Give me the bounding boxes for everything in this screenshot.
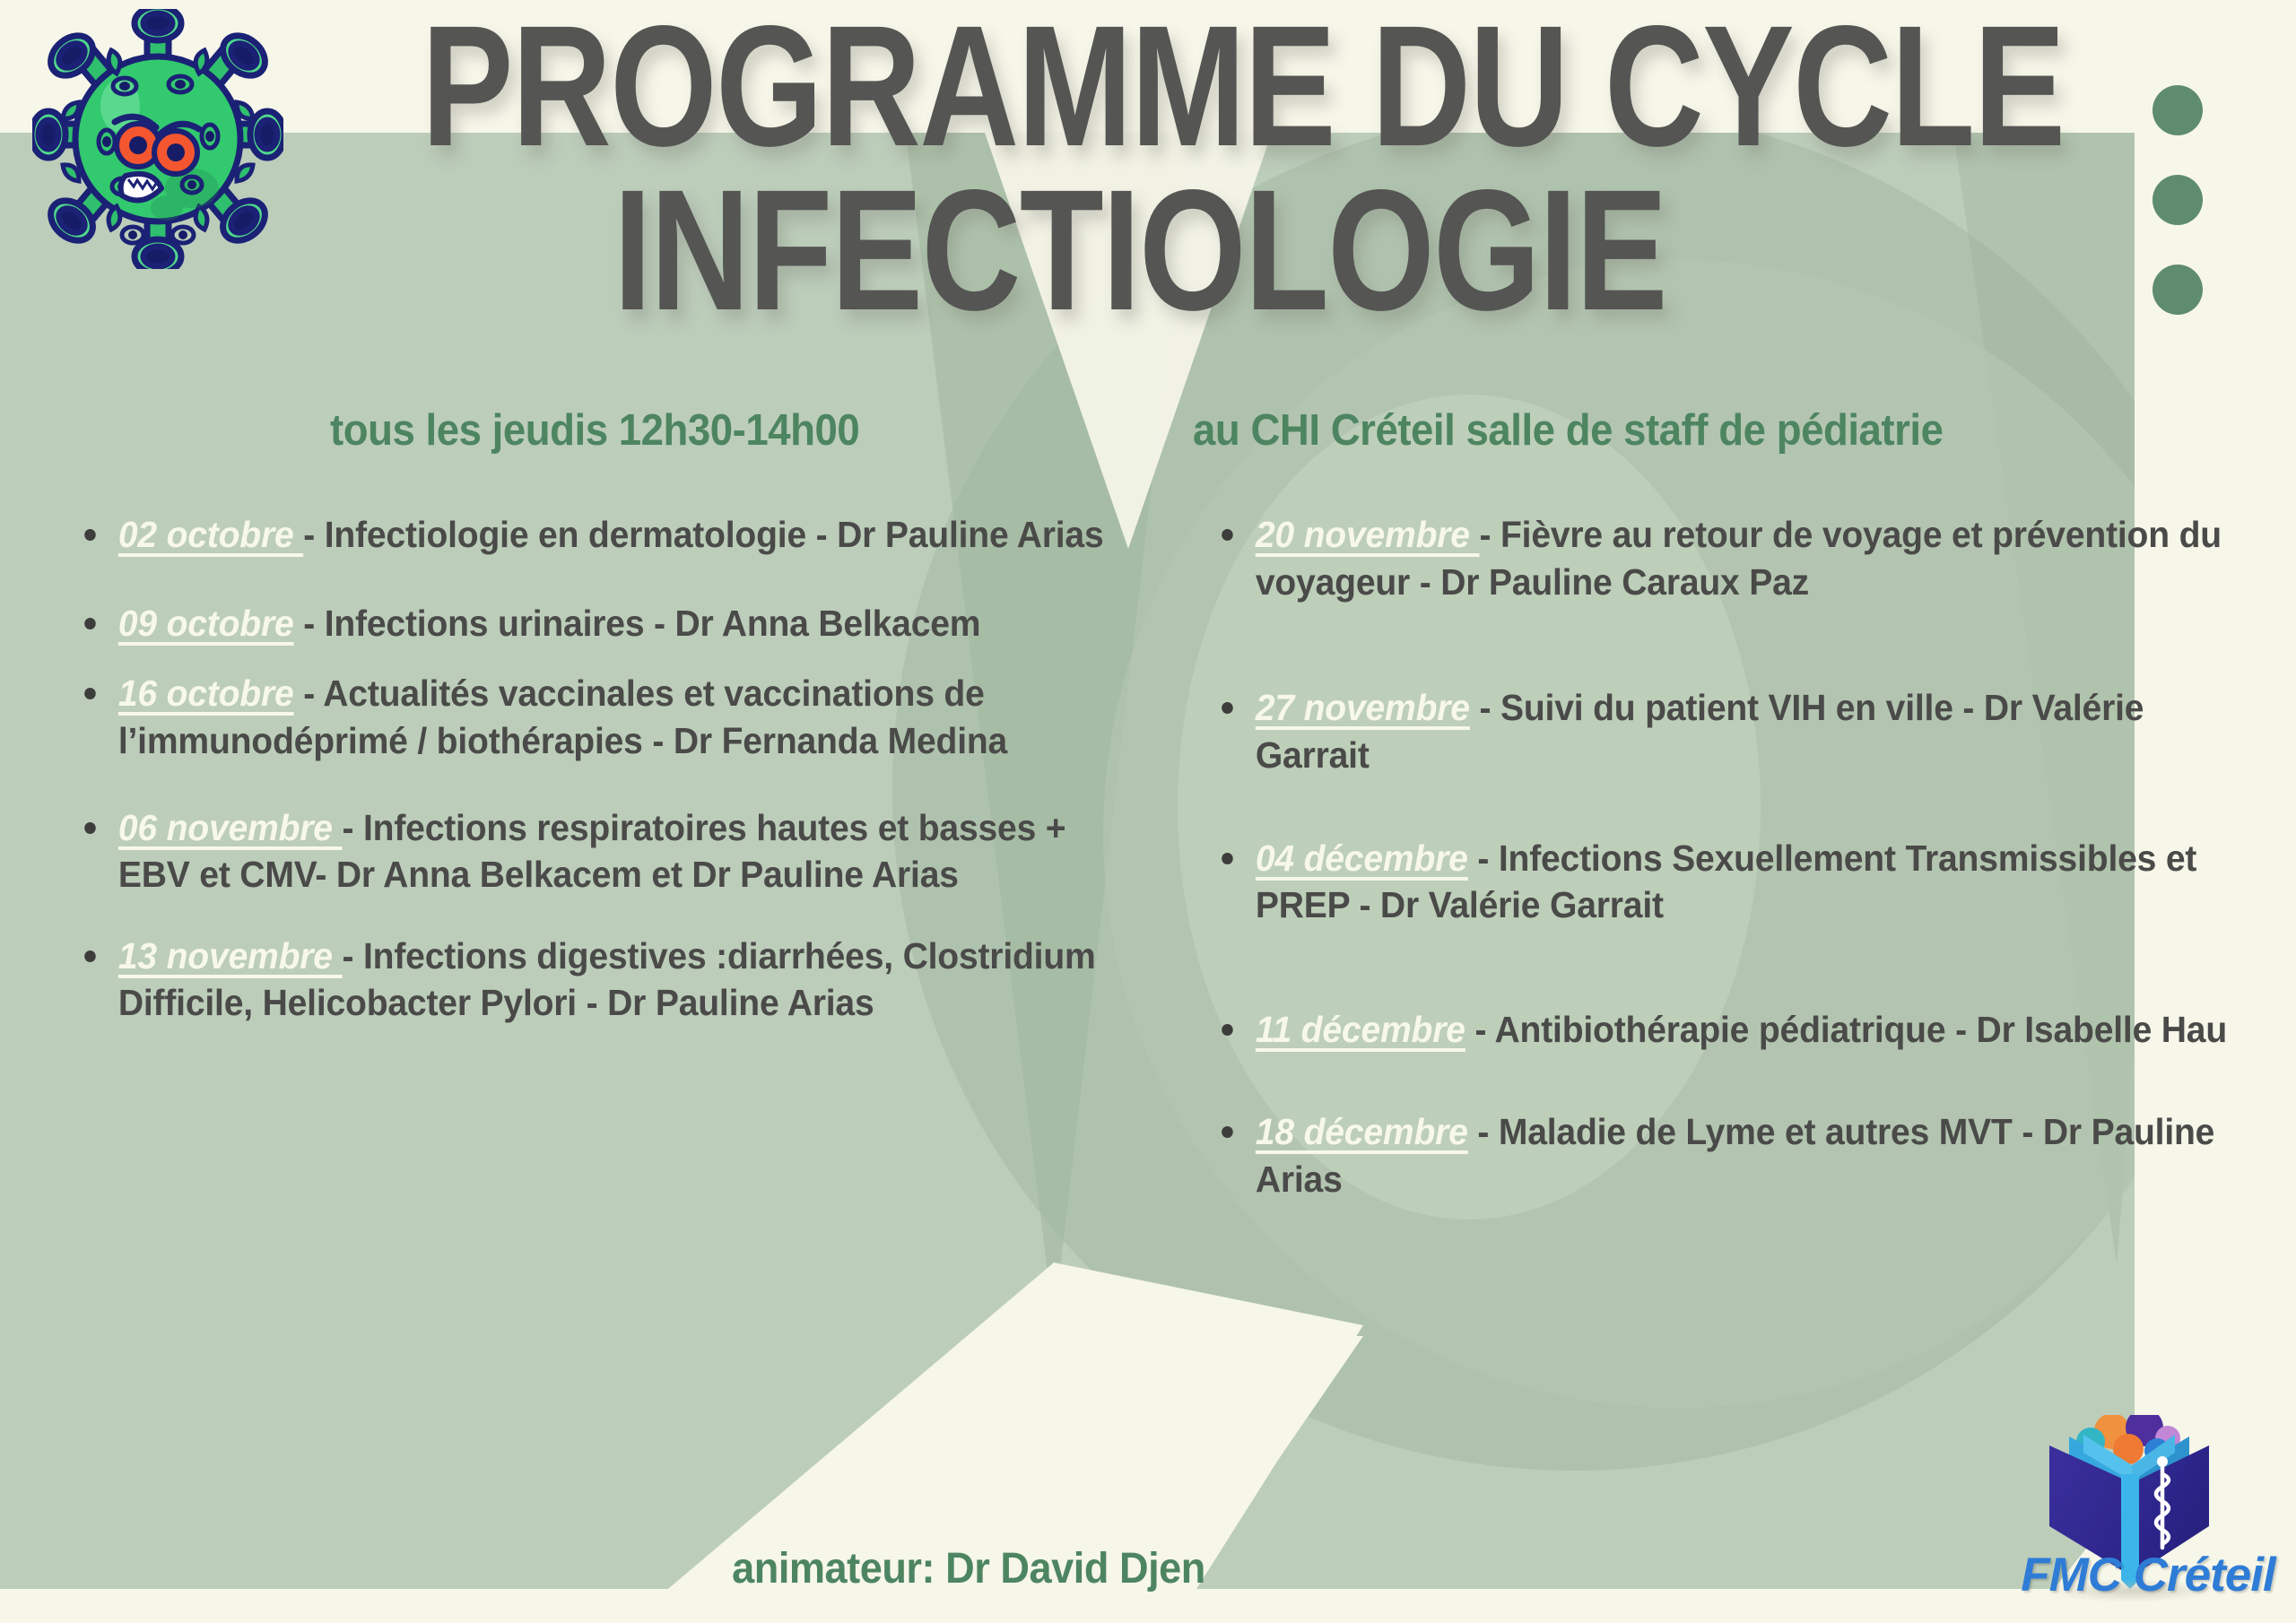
schedule-item-date: 02 octobre xyxy=(118,514,303,555)
subheader-location: au CHI Créteil salle de staff de pédiatr… xyxy=(1193,405,1943,456)
fmc-creteil-logo: FMC Créteil xyxy=(2013,1415,2283,1617)
schedule-item: 04 décembre - Infections Sexuellement Tr… xyxy=(1202,835,2253,929)
schedule-item-date: 09 octobre xyxy=(118,603,294,644)
subheader-row: tous les jeudis 12h30-14h00 au CHI Créte… xyxy=(0,405,2296,468)
schedule-column-left: 02 octobre - Infectiologie en dermatolog… xyxy=(65,511,1186,1061)
schedule-item-date: 27 novembre xyxy=(1256,687,1470,728)
fmc-logo-wordmark: FMC Créteil xyxy=(2013,1548,2283,1602)
schedule-item-text: - Antibiothérapie pédiatrique - Dr Isabe… xyxy=(1465,1009,2227,1050)
schedule-column-right: 20 novembre - Fièvre au retour de voyage… xyxy=(1202,511,2292,1259)
schedule-item-date: 20 novembre xyxy=(1256,514,1480,555)
schedule-item-date: 16 octobre xyxy=(118,673,294,714)
decorative-dot-2 xyxy=(2152,175,2203,225)
schedule-item: 27 novembre - Suivi du patient VIH en vi… xyxy=(1202,684,2253,778)
schedule-item-date: 11 décembre xyxy=(1256,1009,1465,1050)
schedule-item-text: - Infections urinaires - Dr Anna Belkace… xyxy=(294,603,981,644)
animator-credit: animateur: Dr David Djen xyxy=(58,1544,1879,1593)
schedule-item-date: 18 décembre xyxy=(1256,1111,1468,1152)
poster-canvas: PROGRAMME DU CYCLE INFECTIOLOGIE tous le… xyxy=(0,0,2296,1623)
schedule-item-text: - Infectiologie en dermatologie - Dr Pau… xyxy=(303,514,1103,555)
schedule-item: 16 octobre - Actualités vaccinales et va… xyxy=(65,670,1146,764)
title-line-2: INFECTIOLOGIE xyxy=(613,171,1823,330)
decorative-dots-group xyxy=(2152,85,2233,354)
schedule-item: 18 décembre - Maladie de Lyme et autres … xyxy=(1202,1108,2253,1202)
schedule-item: 11 décembre - Antibiothérapie pédiatriqu… xyxy=(1202,1006,2253,1054)
title-line-1: PROGRAMME DU CYCLE xyxy=(422,7,1785,166)
schedule-item-date: 04 décembre xyxy=(1256,838,1468,879)
page-title: PROGRAMME DU CYCLE INFECTIOLOGIE xyxy=(422,7,2126,329)
subheader-schedule: tous les jeudis 12h30-14h00 xyxy=(330,405,859,456)
schedule-item: 13 novembre - Infections digestives :dia… xyxy=(65,933,1146,1027)
schedule-item: 06 novembre - Infections respiratoires h… xyxy=(65,804,1146,898)
cream-bottom-band xyxy=(0,1589,2296,1623)
schedule-list-right: 20 novembre - Fièvre au retour de voyage… xyxy=(1202,511,2292,1203)
decorative-dot-3 xyxy=(2152,265,2203,315)
virus-mascot-icon xyxy=(32,9,283,269)
schedule-item: 20 novembre - Fièvre au retour de voyage… xyxy=(1202,511,2253,605)
decorative-dot-1 xyxy=(2152,85,2203,135)
schedule-item: 09 octobre - Infections urinaires - Dr A… xyxy=(65,600,1146,647)
schedule-item-date: 13 novembre xyxy=(118,935,343,976)
schedule-item-date: 06 novembre xyxy=(118,807,343,848)
schedule-item: 02 octobre - Infectiologie en dermatolog… xyxy=(65,511,1146,559)
schedule-list-left: 02 octobre - Infectiologie en dermatolog… xyxy=(65,511,1186,1027)
